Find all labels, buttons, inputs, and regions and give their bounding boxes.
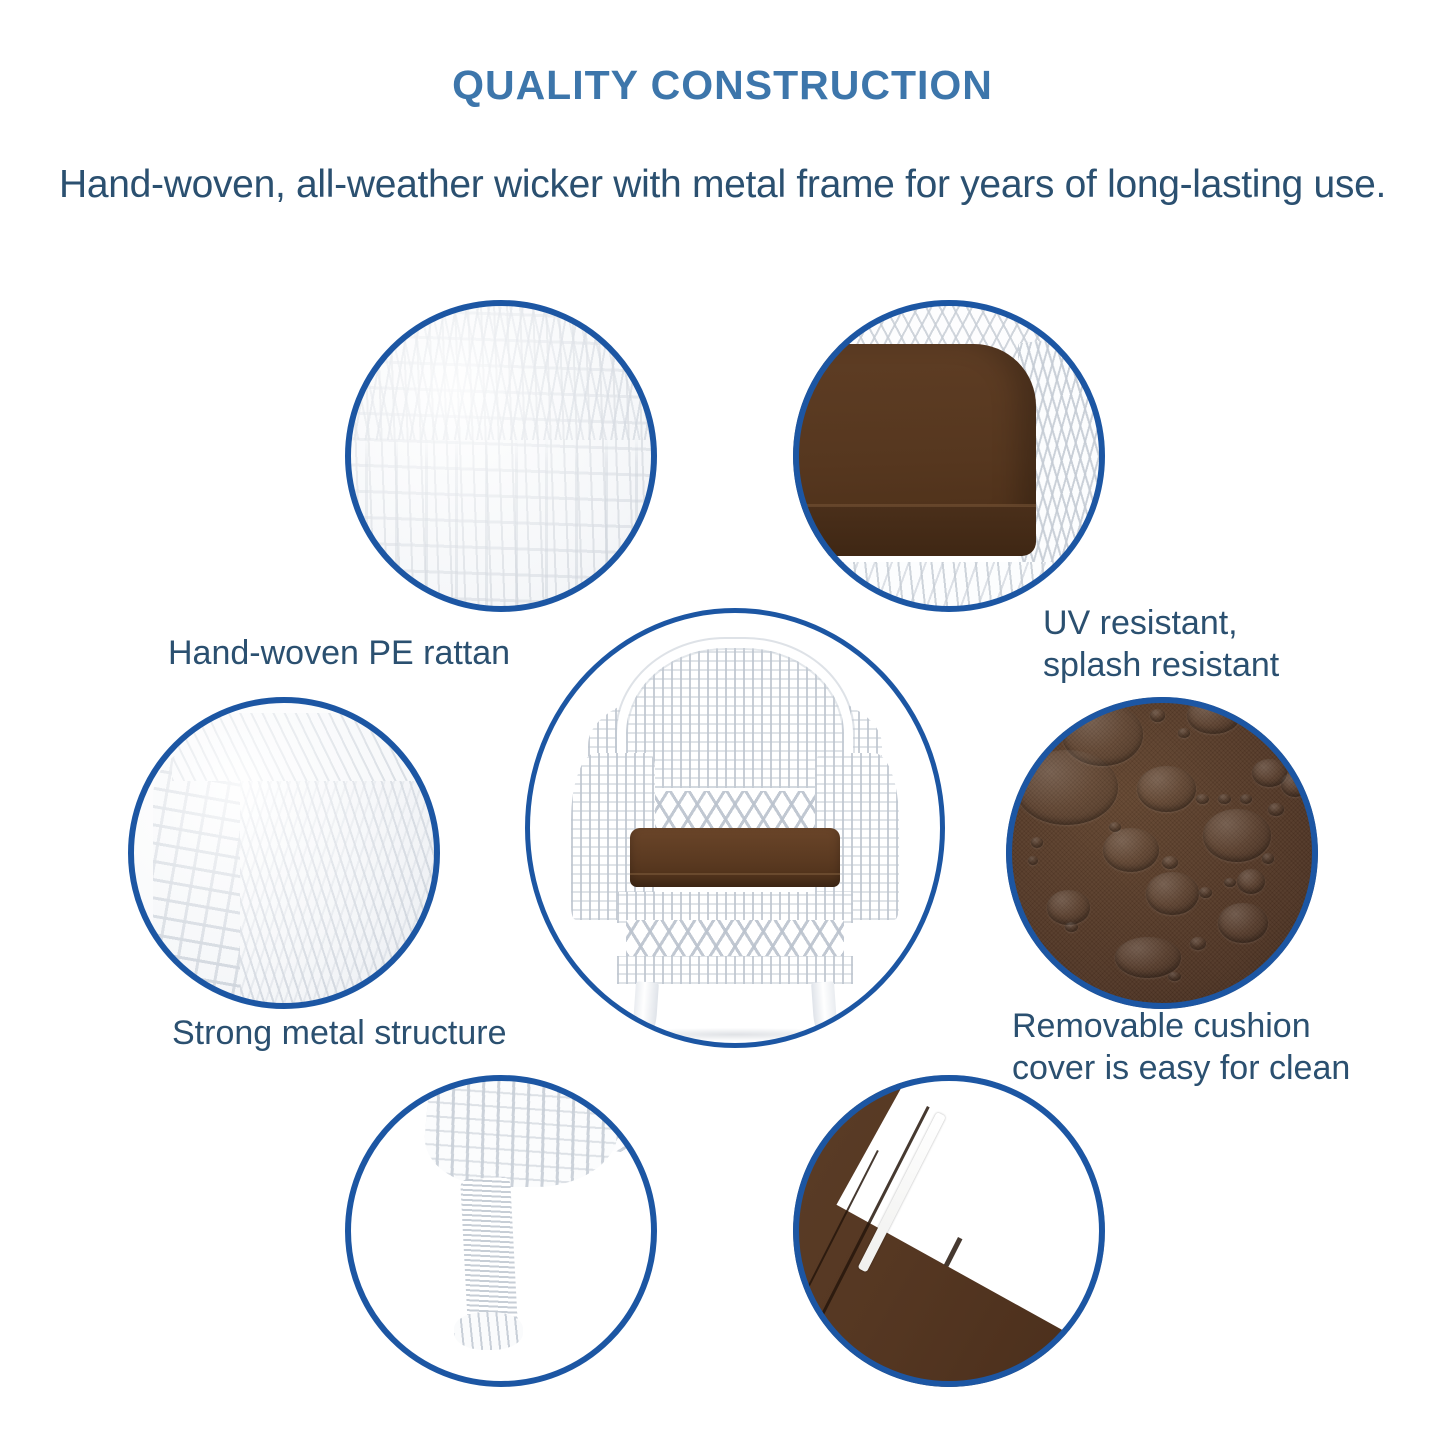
rattan-weave-photo xyxy=(345,300,657,612)
feature-image-chair xyxy=(525,608,945,1048)
weave-shading xyxy=(345,300,657,612)
feature-image-water-droplets xyxy=(1006,697,1318,1009)
feature-image-armrest xyxy=(128,697,440,1009)
water-drop xyxy=(1281,772,1309,797)
brown-cushion-side xyxy=(793,506,1036,556)
water-drop xyxy=(1237,869,1265,894)
zipper-photo xyxy=(793,1075,1105,1387)
infographic-canvas: QUALITY CONSTRUCTION Hand-woven, all-wea… xyxy=(0,0,1445,1445)
armrest-photo xyxy=(128,697,440,1009)
water-drop xyxy=(1196,794,1208,805)
chair-backdrop xyxy=(525,608,945,1048)
chair-photo xyxy=(525,608,945,1048)
water-drop xyxy=(1047,890,1091,924)
chair-seat-seam xyxy=(630,873,840,875)
chair-front-rail xyxy=(617,956,852,985)
chair-back-lattice xyxy=(655,791,815,831)
water-drop xyxy=(1203,809,1272,862)
water-droplets-photo xyxy=(1006,697,1318,1009)
water-drop xyxy=(1190,937,1206,949)
feature-image-chair-leg xyxy=(345,1075,657,1387)
water-drop xyxy=(1268,803,1284,815)
water-drop xyxy=(1162,856,1178,868)
cushion-corner-photo xyxy=(793,300,1105,612)
water-drop xyxy=(1224,878,1235,887)
water-drop xyxy=(1015,750,1118,825)
chair-leg-photo xyxy=(345,1075,657,1387)
water-drop xyxy=(1150,709,1166,721)
feature-image-cushion-corner xyxy=(793,300,1105,612)
water-drop xyxy=(1178,728,1190,737)
chair-front-lattice xyxy=(626,920,844,955)
page-title: QUALITY CONSTRUCTION xyxy=(0,62,1445,109)
chair-ground-shadow xyxy=(601,1028,870,1041)
armrest-shading xyxy=(128,697,440,1009)
chair-seat-cushion xyxy=(630,828,840,887)
caption-uv-splash-resistant: UV resistant, splash resistant xyxy=(1043,602,1279,686)
chair-seat-skirt xyxy=(617,892,852,923)
water-drop xyxy=(1218,794,1230,805)
water-drop xyxy=(1103,828,1159,872)
page-subtitle: Hand-woven, all-weather wicker with meta… xyxy=(0,163,1445,207)
leg-foot-cap xyxy=(454,1312,523,1349)
water-drop xyxy=(1065,922,1077,933)
water-drop xyxy=(1168,972,1180,981)
caption-strong-metal-structure: Strong metal structure xyxy=(172,1012,506,1054)
cushion-seam xyxy=(793,504,1036,507)
water-drop xyxy=(1199,887,1211,898)
leg-wrapped-shaft xyxy=(460,1177,518,1329)
caption-removable-cushion-cover: Removable cushion cover is easy for clea… xyxy=(1012,1005,1350,1089)
caption-hand-woven-pe-rattan: Hand-woven PE rattan xyxy=(168,632,510,674)
feature-image-zipper xyxy=(793,1075,1105,1387)
water-drop xyxy=(1262,853,1274,864)
feature-image-rattan-weave xyxy=(345,300,657,612)
